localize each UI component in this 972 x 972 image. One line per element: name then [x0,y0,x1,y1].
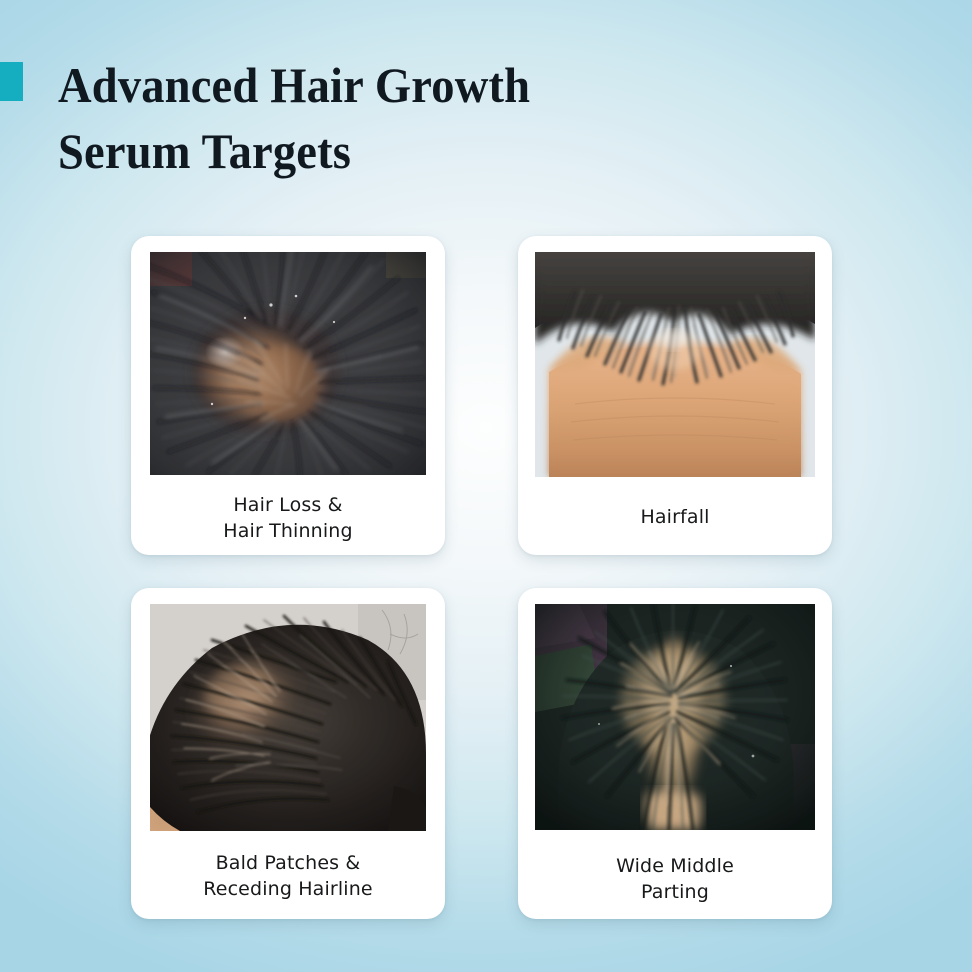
card-caption: Wide Middle Parting [518,853,832,905]
card-caption: Bald Patches & Receding Hairline [131,850,445,902]
receding-hairline-forehead-photo [535,252,815,477]
condition-card-grid: Hair Loss & Hair Thinning [131,236,831,919]
card-bald-patches-receding-hairline[interactable]: Bald Patches & Receding Hairline [131,588,445,919]
card-hairfall[interactable]: Hairfall [518,236,832,555]
card-caption: Hair Loss & Hair Thinning [131,492,445,544]
page-title: Advanced Hair Growth Serum Targets [58,52,709,184]
accent-bar [0,62,23,101]
card-caption: Hairfall [518,504,832,530]
scalp-thinning-crown-photo [150,252,426,475]
page-header: Advanced Hair Growth Serum Targets [0,52,972,192]
card-hair-loss-thinning[interactable]: Hair Loss & Hair Thinning [131,236,445,555]
bald-patch-side-scalp-photo [150,604,426,831]
card-wide-middle-parting[interactable]: Wide Middle Parting [518,588,832,919]
wide-middle-parting-photo [535,604,815,830]
